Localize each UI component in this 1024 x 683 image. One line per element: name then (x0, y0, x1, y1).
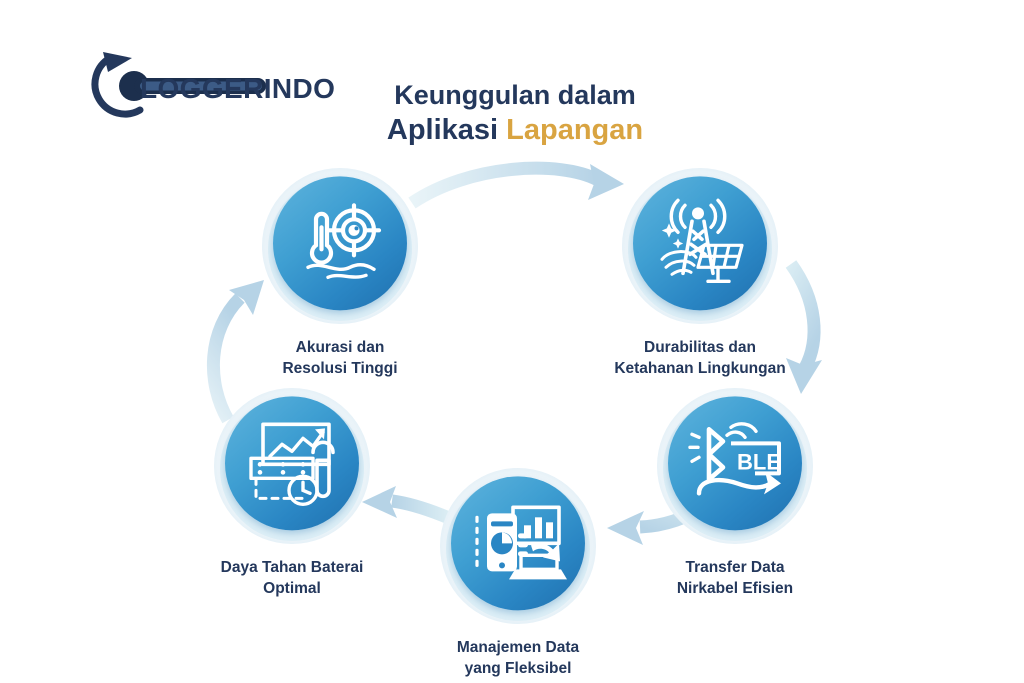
cycle-node-disc (622, 168, 778, 324)
disc-face (451, 476, 585, 610)
cycle-node-label: Manajemen Data yang Fleksibel (368, 638, 668, 679)
thermometer-target-waves-icon (294, 197, 386, 289)
monitor-logger-battery-clock-icon (243, 418, 341, 508)
cycle-node-daya-tahan-baterai[interactable]: Daya Tahan Baterai Optimal (142, 388, 442, 599)
cycle-node-disc (440, 468, 596, 624)
cycle-node-disc (262, 168, 418, 324)
disc-face (225, 396, 359, 530)
cycle-node-label: Akurasi dan Resolusi Tinggi (190, 338, 490, 379)
ble-icon-text: BLE (737, 449, 781, 474)
cycle-node-label: Durabilitas dan Ketahanan Lingkungan (550, 338, 850, 379)
cycle-node-disc (214, 388, 370, 544)
disc-face (633, 176, 767, 310)
disc-face (273, 176, 407, 310)
phone-laptop-charts-icon (469, 499, 567, 587)
cycle-node-label: Daya Tahan Baterai Optimal (142, 558, 442, 599)
radio-tower-solar-panel-icon (652, 197, 748, 289)
cycle-node-durabilitas-lingkungan[interactable]: Durabilitas dan Ketahanan Lingkungan (550, 168, 850, 379)
cycle-node-akurasi-resolusi[interactable]: Akurasi dan Resolusi Tinggi (190, 168, 490, 379)
bluetooth-ble-transfer-icon: BLE (685, 421, 785, 505)
cycle-diagram: Akurasi dan Resolusi Tinggi (0, 0, 1024, 683)
disc-face: BLE (668, 396, 802, 530)
cycle-node-disc: BLE (657, 388, 813, 544)
